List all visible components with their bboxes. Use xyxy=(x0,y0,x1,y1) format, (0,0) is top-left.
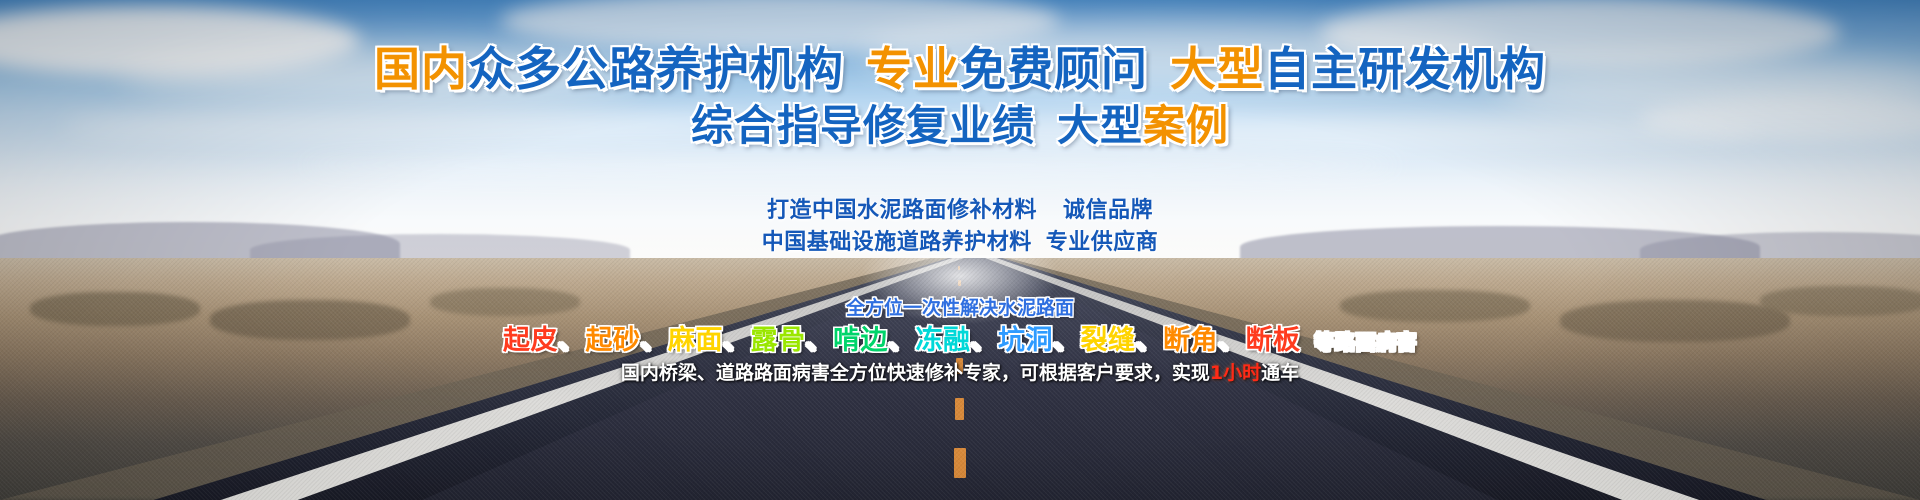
headline1-seg-6: 自主研发机构 xyxy=(1264,42,1546,96)
damage-item: 裂缝 xyxy=(1081,325,1136,356)
headline1-seg-2: 众多公路养护机构 xyxy=(468,42,844,96)
damage-item: 断角 xyxy=(1163,325,1218,356)
damage-separator: 、 xyxy=(1218,325,1246,356)
damage-separator: 、 xyxy=(1053,325,1081,356)
subhead2-main: 中国基础设施道路养护材料 xyxy=(762,230,1032,255)
damage-separator: 、 xyxy=(1136,325,1164,356)
damage-separator: 、 xyxy=(806,325,834,356)
headline-line-1: 国内众多公路养护机构专业免费顾问大型自主研发机构 xyxy=(0,44,1920,94)
damage-item: 起皮 xyxy=(503,325,558,356)
damage-separator: 、 xyxy=(558,325,586,356)
damage-item: 啃边 xyxy=(833,325,888,356)
subhead2-tag: 专业供应商 xyxy=(1046,230,1159,255)
banner-content: 国内众多公路养护机构专业免费顾问大型自主研发机构 综合指导修复业绩大型案例 打造… xyxy=(0,0,1920,500)
footer-highlight: 1小时 xyxy=(1210,362,1261,384)
headline2-seg-1: 综合指导修复业绩 xyxy=(691,101,1035,150)
damage-item: 断板 xyxy=(1246,325,1301,356)
damage-separator: 、 xyxy=(723,325,751,356)
damage-tail: 等路面病害 xyxy=(1315,330,1418,354)
headline2-seg-2: 大型 xyxy=(1057,101,1143,150)
damage-item: 露骨 xyxy=(751,325,806,356)
headline1-seg-5: 大型 xyxy=(1170,42,1264,96)
damage-item: 坑洞 xyxy=(998,325,1053,356)
lower-intro-line: 全方位一次性解决水泥路面 xyxy=(0,293,1920,320)
subhead-line-2: 中国基础设施道路养护材料专业供应商 xyxy=(0,224,1920,256)
promo-banner: 国内众多公路养护机构专业免费顾问大型自主研发机构 综合指导修复业绩大型案例 打造… xyxy=(0,0,1920,500)
damage-item: 冻融 xyxy=(916,325,971,356)
subhead-line-1: 打造中国水泥路面修补材料诚信品牌 xyxy=(0,192,1920,224)
headline2-seg-3: 案例 xyxy=(1143,101,1229,150)
footer-line: 国内桥梁、道路路面病害全方位快速修补专家，可根据客户要求，实现1小时通车 xyxy=(0,358,1920,385)
subhead1-tag: 诚信品牌 xyxy=(1063,198,1153,223)
headline1-seg-4: 免费顾问 xyxy=(960,42,1148,96)
damage-separator: 、 xyxy=(971,325,999,356)
damage-item: 起砂 xyxy=(586,325,641,356)
headline1-seg-3: 专业 xyxy=(866,42,960,96)
headline1-seg-1: 国内 xyxy=(374,42,468,96)
footer-text-b: 通车 xyxy=(1261,362,1299,384)
damage-item: 麻面 xyxy=(668,325,723,356)
headline-line-2: 综合指导修复业绩大型案例 xyxy=(0,102,1920,150)
damage-list-line: 起皮、起砂、麻面、露骨、啃边、冻融、坑洞、裂缝、断角、断板等路面病害 xyxy=(0,318,1920,357)
subhead1-main: 打造中国水泥路面修补材料 xyxy=(767,198,1037,223)
damage-separator: 、 xyxy=(888,325,916,356)
damage-separator: 、 xyxy=(641,325,669,356)
footer-text-a: 国内桥梁、道路路面病害全方位快速修补专家，可根据客户要求，实现 xyxy=(621,362,1210,384)
